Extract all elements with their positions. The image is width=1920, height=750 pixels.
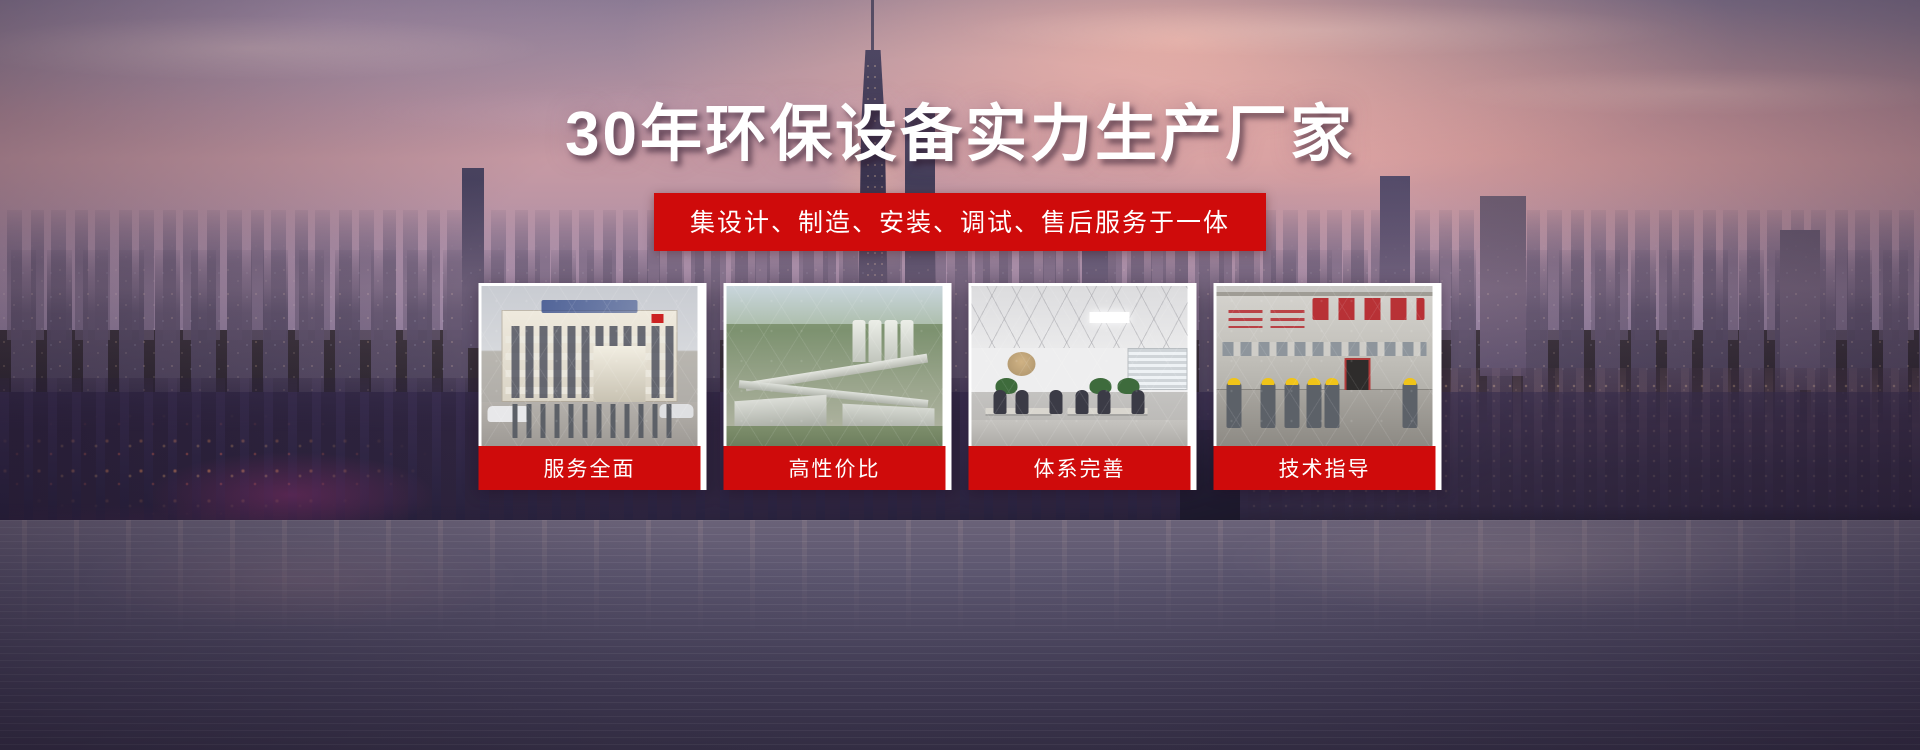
feature-card-2[interactable]: 高性价比 — [724, 283, 952, 490]
watermark-dots — [972, 286, 1188, 446]
card-image-office-interior — [972, 286, 1188, 446]
feature-card-3[interactable]: 体系完善 — [969, 283, 1197, 490]
card-image-company-building — [482, 286, 698, 446]
subtitle-badge: 集设计、制造、安装、调试、售后服务于一体 — [654, 193, 1266, 251]
card-image-factory-workers — [1217, 286, 1433, 446]
card-caption-1: 服务全面 — [479, 446, 701, 490]
watermark-dots — [482, 286, 698, 446]
watermark-dots — [727, 286, 943, 446]
hero-banner: 30年环保设备实力生产厂家 集设计、制造、安装、调试、售后服务于一体 — [0, 0, 1920, 750]
feature-card-1[interactable]: 服务全面 — [479, 283, 707, 490]
card-caption-2: 高性价比 — [724, 446, 946, 490]
watermark-dots — [1217, 286, 1433, 446]
card-caption-4: 技术指导 — [1214, 446, 1436, 490]
feature-card-list: 服务全面 高性价比 — [479, 283, 1442, 490]
card-image-plant-aerial — [727, 286, 943, 446]
page-title: 30年环保设备实力生产厂家 — [0, 100, 1920, 169]
card-caption-3: 体系完善 — [969, 446, 1191, 490]
feature-card-4[interactable]: 技术指导 — [1214, 283, 1442, 490]
